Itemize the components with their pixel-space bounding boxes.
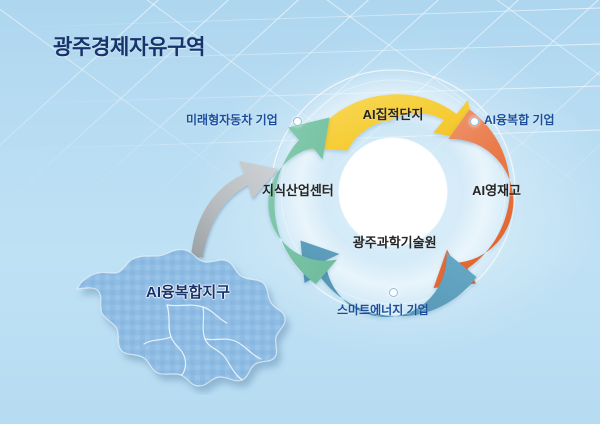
node-dot-icon-smart-energy [389,288,398,297]
page-title: 광주경제자유구역 [53,31,205,61]
segment-label-top: AI집적단지 [363,104,424,123]
gwangju-map [55,245,305,395]
outer-label-ai-converge: AI융복합 기업 [484,111,555,128]
map-region-label: AI융복합지구 [146,281,230,302]
node-dot-icon-ai-converge [470,117,479,126]
segment-label-right: AI영재고 [472,180,521,199]
segment-label-bottom: 광주과학기술원 [353,232,437,251]
gwangju-map-shape [55,245,305,395]
outer-label-future-car: 미래형자동차 기업 [186,111,278,128]
outer-label-smart-energy: 스마트에너지 기업 [337,301,429,318]
infographic-canvas: 광주경제자유구역 [0,0,600,424]
node-dot-icon-future-car [293,117,302,126]
